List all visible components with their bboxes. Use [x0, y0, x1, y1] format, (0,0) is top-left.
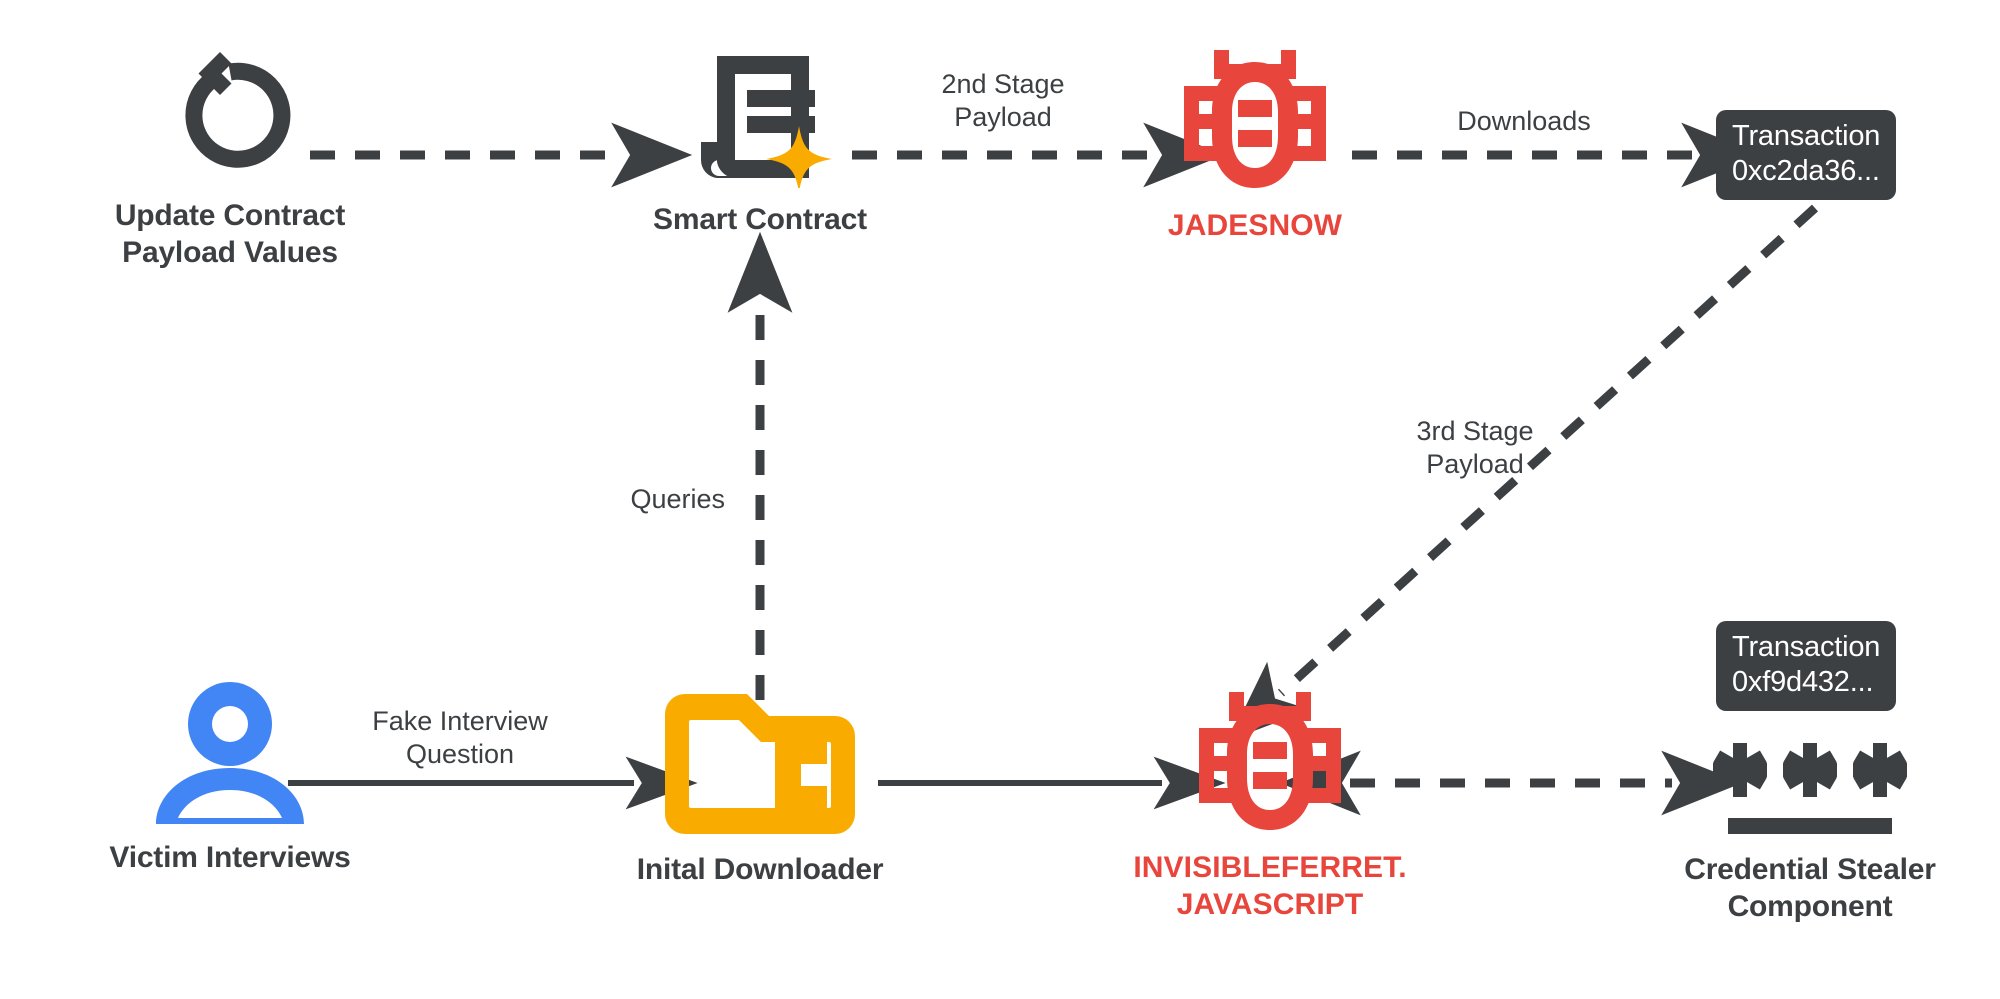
node-label-update-contract: Update Contract Payload Values — [115, 198, 345, 271]
bug-icon — [1195, 688, 1345, 836]
node-label-credential-stealer: Credential Stealer Component — [1684, 852, 1936, 925]
transaction-badge-top[interactable]: Transaction 0xc2da36... — [1716, 110, 1896, 200]
refresh-icon — [164, 48, 296, 184]
node-label-initial-downloader: Inital Downloader — [637, 852, 884, 889]
node-label-victim-interviews: Victim Interviews — [109, 840, 350, 877]
node-update-contract[interactable]: Update Contract Payload Values — [60, 48, 400, 271]
node-credential-stealer[interactable]: Credential Stealer Component — [1640, 740, 1980, 925]
node-initial-downloader[interactable]: Inital Downloader — [610, 690, 910, 889]
edge-label-2nd-stage-payload: 2nd Stage Payload — [857, 68, 1149, 134]
password-asterisks-icon — [1710, 740, 1910, 838]
node-label-jadesnow: JADESNOW — [1168, 208, 1342, 245]
person-icon — [154, 680, 306, 826]
bug-icon — [1180, 46, 1330, 194]
node-smart-contract[interactable]: Smart Contract — [620, 48, 900, 239]
smart-contract-icon — [687, 48, 833, 188]
node-victim-interviews[interactable]: Victim Interviews — [60, 680, 400, 877]
node-label-invisibleferret: INVISIBLEFERRET. JAVASCRIPT — [1133, 850, 1406, 923]
edge-label-3rd-stage-payload: 3rd Stage Payload — [1330, 415, 1620, 481]
node-label-smart-contract: Smart Contract — [653, 202, 867, 239]
node-jadesnow[interactable]: JADESNOW — [1125, 46, 1385, 245]
edge-label-downloads: Downloads — [1392, 105, 1656, 138]
zip-folder-icon — [665, 690, 855, 838]
diagram-canvas: Smart Contract (dashed) --> JADESNOW (da… — [0, 0, 2000, 999]
edge-label-queries: Queries — [545, 483, 725, 516]
node-invisibleferret[interactable]: INVISIBLEFERRET. JAVASCRIPT — [1125, 688, 1415, 923]
transaction-badge-bottom[interactable]: Transaction 0xf9d432... — [1716, 621, 1896, 711]
